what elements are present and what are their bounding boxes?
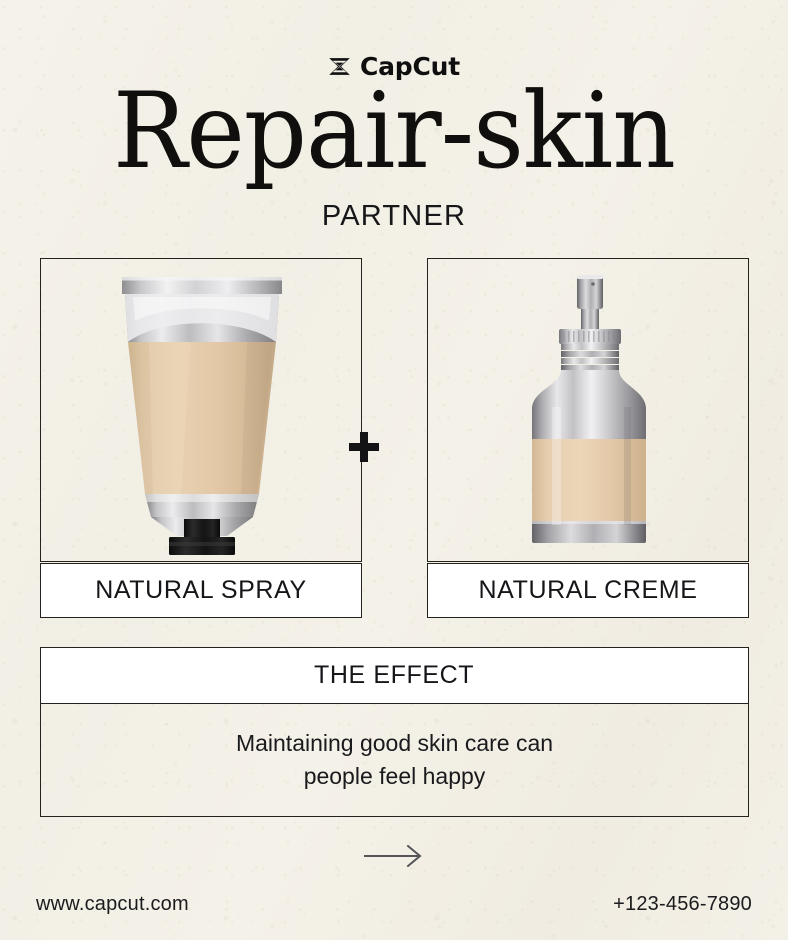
product-caption-label-1: NATURAL SPRAY: [95, 576, 307, 605]
product-image-frame-2: [427, 258, 749, 562]
product-caption-2: NATURAL CREME: [427, 563, 749, 618]
effect-line-1: Maintaining good skin care can: [236, 728, 553, 759]
effect-body: Maintaining good skin care can people fe…: [41, 705, 748, 815]
product-card-2[interactable]: NATURAL CREME: [427, 258, 749, 618]
footer: www.capcut.com +123-456-7890: [36, 893, 752, 916]
effect-panel: THE EFFECT Maintaining good skin care ca…: [40, 647, 749, 817]
page-title: Repair-skin: [24, 79, 765, 184]
footer-website[interactable]: www.capcut.com: [36, 893, 189, 916]
product-caption-1: NATURAL SPRAY: [40, 563, 362, 618]
product-image-frame-1: [40, 258, 362, 562]
product-card-1[interactable]: NATURAL SPRAY: [40, 258, 362, 618]
effect-heading: THE EFFECT: [40, 647, 749, 704]
product-caption-label-2: NATURAL CREME: [479, 576, 698, 605]
product-pair: NATURAL SPRAY: [40, 258, 749, 618]
effect-line-2: people feel happy: [304, 761, 486, 792]
poster-canvas: CapCut Repair-skin PARTNER: [0, 0, 788, 940]
cosmetic-tube-image: [41, 259, 362, 562]
right-arrow-icon[interactable]: [363, 845, 425, 867]
footer-phone[interactable]: +123-456-7890: [613, 893, 752, 916]
page-subtitle: PARTNER: [0, 200, 788, 233]
plus-icon: [343, 426, 385, 468]
spray-bottle-image: [428, 259, 749, 562]
effect-heading-label: THE EFFECT: [314, 661, 474, 690]
arrow-row: [0, 845, 788, 867]
